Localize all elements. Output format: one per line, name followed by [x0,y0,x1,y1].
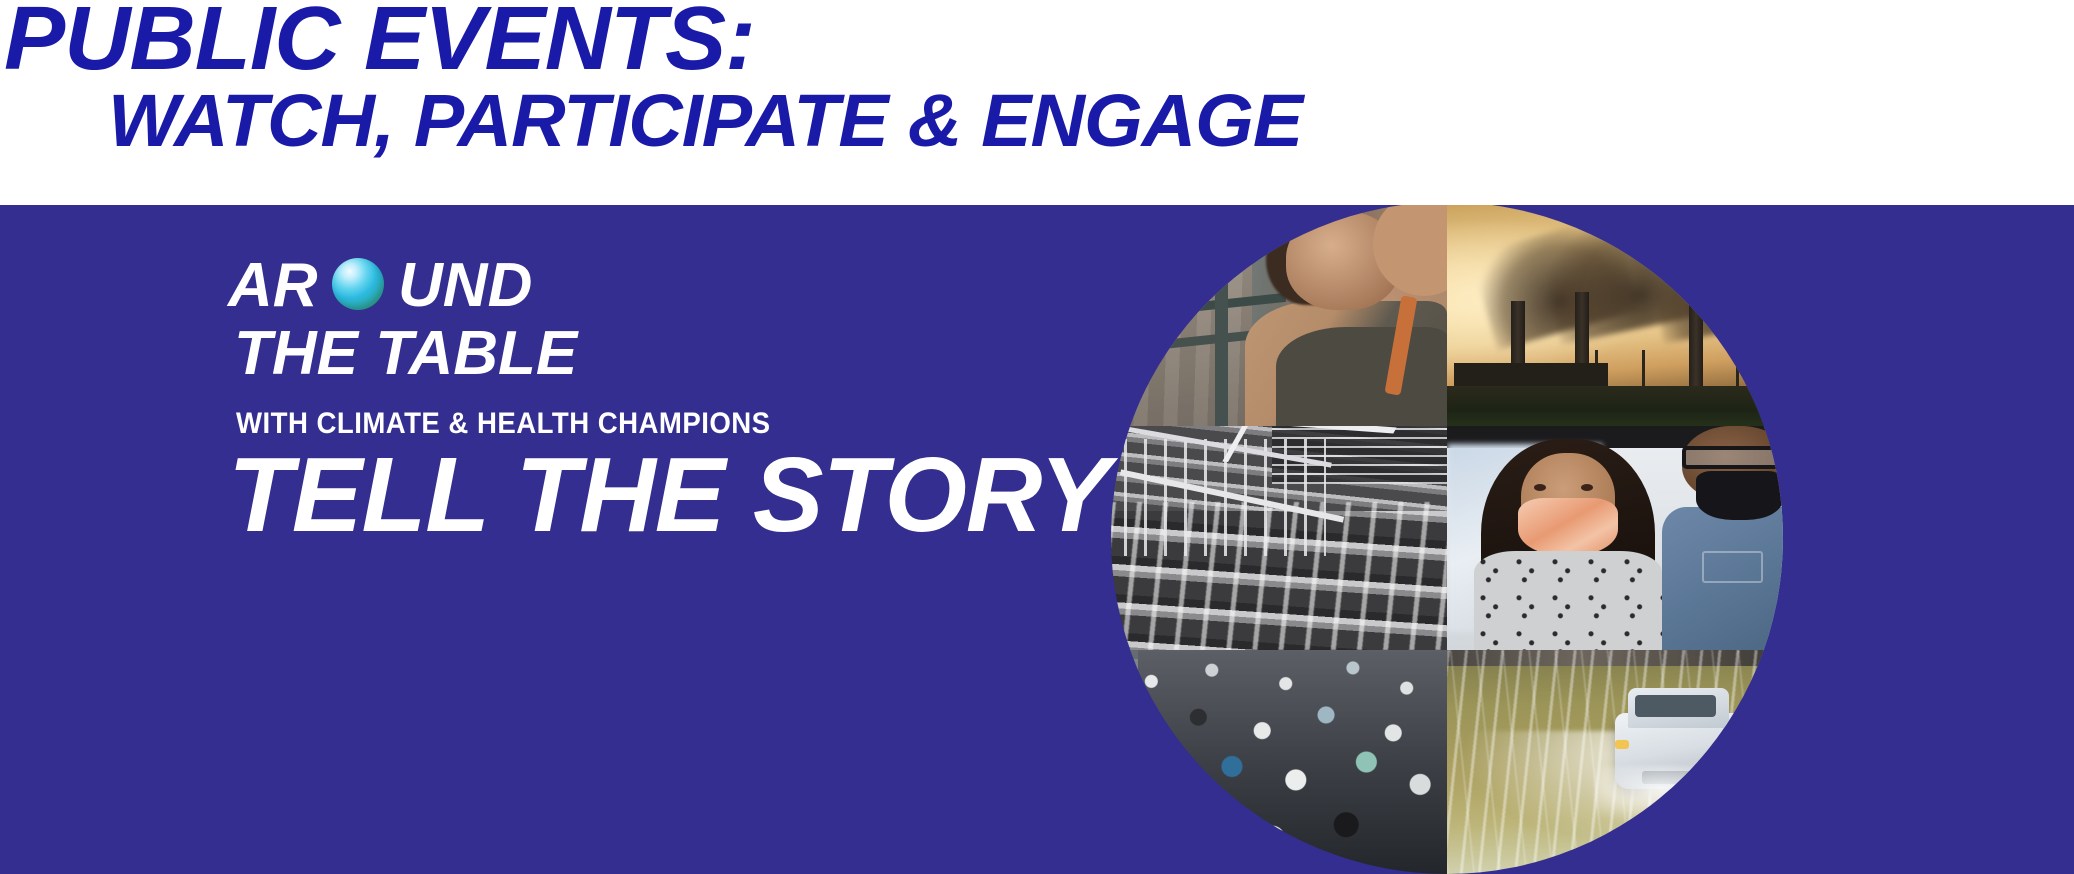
header-banner: PUBLIC EVENTS: WATCH, PARTICIPATE & ENGA… [0,0,2074,205]
collage-photo-car-in-flood [1447,650,1783,874]
logo-letters-und: UND [398,255,532,317]
logo-word-around: AR UND [228,255,817,317]
logo-letters-ar: AR [228,255,318,317]
headline-tell-the-story: TELL THE STORY [228,435,1109,556]
decor-splash [1595,766,1763,824]
decor-adult-shirt-pocket [1702,551,1762,582]
collage-photo-flooded-stairs [1111,426,1447,650]
decor-ground [1447,386,1783,426]
photo-collage-circle [1111,205,1783,874]
header-title-line-2: WATCH, PARTICIPATE & ENGAGE [108,78,1302,163]
decor-crowd-masks [1111,650,1447,874]
logo-word-the-table: THE TABLE [234,323,817,385]
decor-tank-top [1276,327,1447,426]
decor-adult-glasses [1682,446,1783,468]
decor-post [1215,251,1228,426]
collage-photo-smokestacks [1447,205,1783,426]
decor-girl-face-mask [1518,498,1619,556]
collage-photo-masked-children [1447,426,1783,650]
around-the-table-logo: AR UND THE TABLE WITH CLIMATE & HEALTH C… [228,255,817,441]
decor-car-window [1635,695,1716,717]
decor-pylon-2 [1642,350,1645,390]
decor-girl-shirt [1474,551,1662,650]
collage-photo-masked-crowd [1111,650,1447,874]
decor-car-headlight [1615,740,1629,749]
decor-adult-face-mask [1696,471,1783,520]
collage-photo-woman-looking-up [1111,205,1447,426]
main-banner: AR UND THE TABLE WITH CLIMATE & HEALTH C… [0,205,2074,874]
decor-pylon-3 [1736,350,1739,390]
globe-sphere-icon [332,258,384,310]
